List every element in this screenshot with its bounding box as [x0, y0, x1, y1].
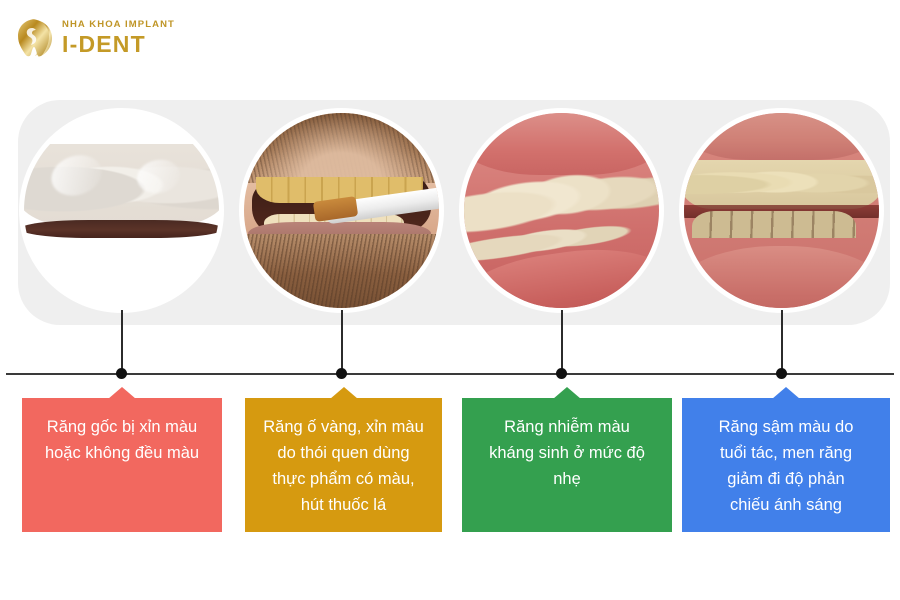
- infographic-canvas: NHA KHOA IMPLANT I-DENT: [0, 0, 900, 600]
- photo-natural-dark-uneven-teeth: [24, 113, 219, 308]
- photo-circle-4: [679, 108, 884, 313]
- photo-circle-3: [459, 108, 664, 313]
- callout-body-2: Răng ố vàng, xỉn màu do thói quen dùng t…: [245, 398, 442, 532]
- callout-text-4: Răng sậm màu do tuổi tác, men răng giảm …: [709, 414, 864, 518]
- photo-tetracycline-stained-teeth-side-view: [464, 113, 659, 308]
- callout-box-1: Răng gốc bị xỉn màu hoặc không đều màu: [22, 398, 222, 532]
- callout-box-2: Răng ố vàng, xỉn màu do thói quen dùng t…: [245, 398, 442, 532]
- callout-box-4: Răng sậm màu do tuổi tác, men răng giảm …: [682, 398, 890, 532]
- brand-logo: NHA KHOA IMPLANT I-DENT: [14, 12, 234, 64]
- connector-line-3: [561, 310, 563, 374]
- callout-body-3: Răng nhiễm màu kháng sinh ở mức độ nhẹ: [462, 398, 672, 532]
- brand-name: I-DENT: [62, 31, 175, 57]
- timeline-dot-3: [556, 368, 567, 379]
- callout-text-3: Răng nhiễm màu kháng sinh ở mức độ nhẹ: [479, 414, 655, 492]
- photo-circle-2: [239, 108, 444, 313]
- brand-tagline: NHA KHOA IMPLANT: [62, 19, 175, 31]
- timeline-dot-2: [336, 368, 347, 379]
- photo-aged-dark-teeth-with-gaps: [684, 113, 879, 308]
- connector-line-4: [781, 310, 783, 374]
- tooth-swirl-logo-icon: [14, 16, 54, 60]
- timeline-dot-4: [776, 368, 787, 379]
- callout-text-2: Răng ố vàng, xỉn màu do thói quen dùng t…: [253, 414, 434, 518]
- timeline-axis: [6, 373, 894, 375]
- callout-body-1: Răng gốc bị xỉn màu hoặc không đều màu: [22, 398, 222, 532]
- photo-circle-1: [19, 108, 224, 313]
- callout-box-3: Răng nhiễm màu kháng sinh ở mức độ nhẹ: [462, 398, 672, 532]
- connector-line-1: [121, 310, 123, 374]
- timeline-dot-1: [116, 368, 127, 379]
- callout-text-1: Răng gốc bị xỉn màu hoặc không đều màu: [35, 414, 209, 466]
- photo-smoker-yellow-teeth-cigarette: [244, 113, 439, 308]
- callout-body-4: Răng sậm màu do tuổi tác, men răng giảm …: [682, 398, 890, 532]
- connector-line-2: [341, 310, 343, 374]
